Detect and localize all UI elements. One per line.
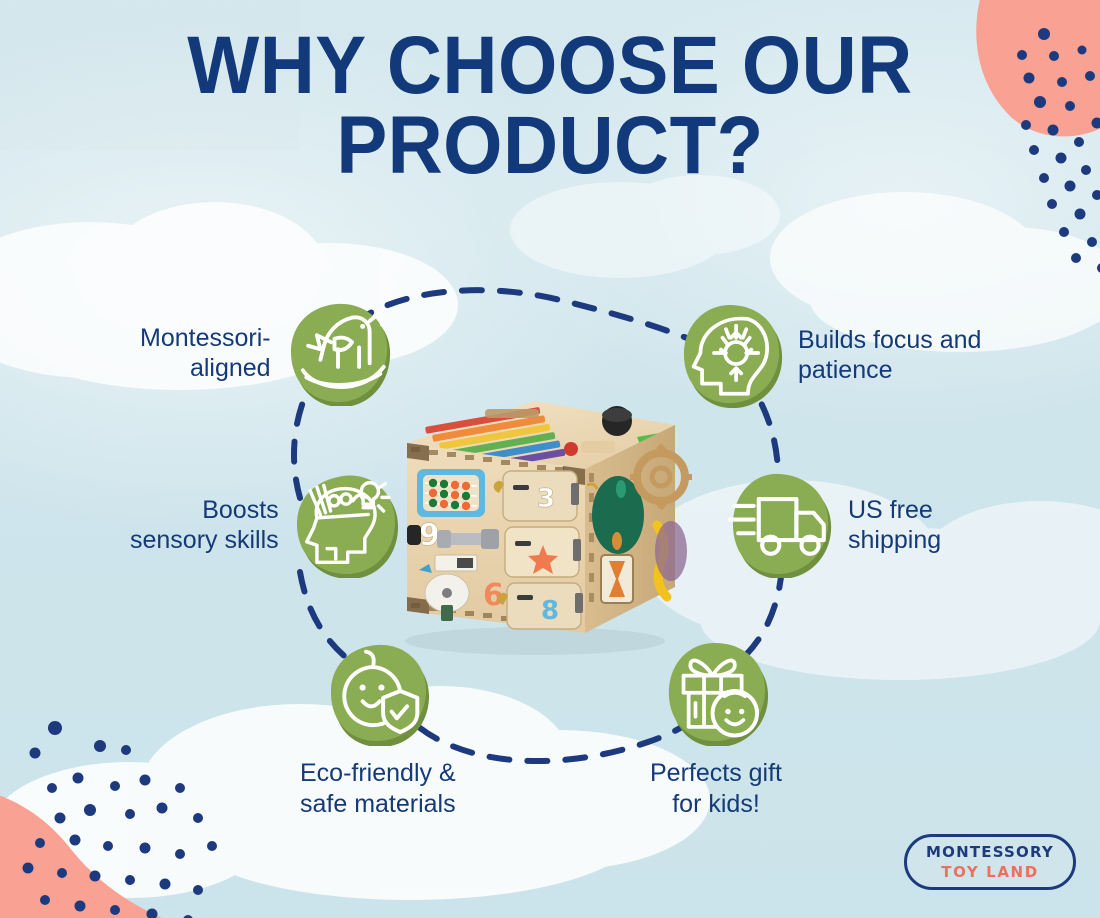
logo-text-top: MONTESSORY [926, 843, 1054, 861]
page-title: WHY CHOOSE OUR PRODUCT? [0, 26, 1100, 187]
feature-us-free-shipping[interactable]: US free shipping [728, 472, 941, 578]
feature-builds-focus[interactable]: Builds focus and patience [678, 302, 981, 408]
logo-text-bottom: TOY LAND [941, 863, 1039, 881]
feature-label-focus: Builds focus and patience [798, 325, 981, 386]
product-image-busy-cube: 9 6 3 [385, 365, 695, 655]
feature-eco-friendly-materials[interactable]: Eco-friendly & safe materials [300, 640, 456, 819]
title-line-2: PRODUCT? [39, 106, 1062, 186]
svg-text:9: 9 [419, 518, 440, 553]
gift-child-icon [663, 640, 769, 742]
head-ideas-icon [293, 472, 399, 574]
feature-boosts-sensory-skills[interactable]: Boosts sensory skills [130, 472, 399, 578]
delivery-truck-icon [728, 472, 834, 574]
feature-blob-sensory [293, 472, 399, 578]
brand-logo-badge[interactable]: MONTESSORY TOY LAND [904, 834, 1076, 890]
feature-blob-eco [325, 640, 431, 746]
feature-label-shipping: US free shipping [848, 495, 941, 556]
feature-label-gift: Perfects gift for kids! [650, 758, 782, 819]
svg-text:8: 8 [541, 596, 559, 626]
baby-shield-icon [325, 640, 431, 742]
rocking-horse-icon [285, 300, 391, 402]
feature-label-sensory: Boosts sensory skills [130, 495, 279, 556]
feature-blob-gift [663, 640, 769, 746]
feature-perfect-gift[interactable]: Perfects gift for kids! [650, 640, 782, 819]
feature-label-montessori: Montessori- aligned [140, 323, 271, 384]
feature-blob-montessori [285, 300, 391, 406]
feature-blob-shipping [728, 472, 834, 578]
feature-label-eco: Eco-friendly & safe materials [300, 758, 456, 819]
title-line-1: WHY CHOOSE OUR [39, 26, 1062, 106]
svg-text:3: 3 [537, 484, 555, 514]
feature-montessori-aligned[interactable]: Montessori- aligned [140, 300, 391, 406]
corner-decoration-bottom-left [0, 668, 240, 918]
head-focus-icon [678, 302, 784, 404]
feature-blob-focus [678, 302, 784, 408]
infographic-poster: WHY CHOOSE OUR PRODUCT? [0, 0, 1100, 918]
